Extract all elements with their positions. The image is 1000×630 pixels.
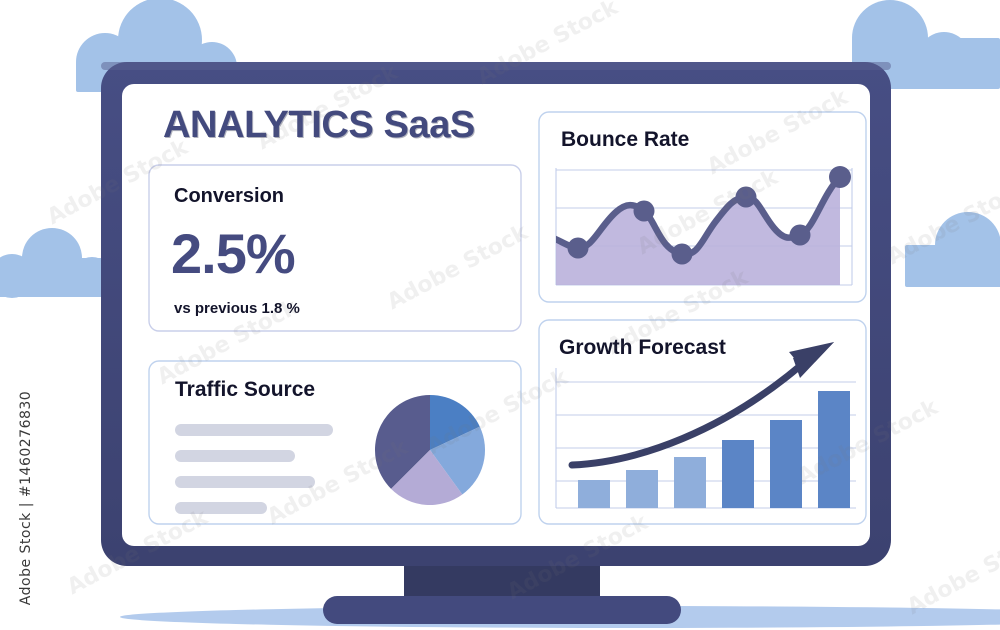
data-point: [568, 238, 589, 259]
monitor-illustration: [0, 0, 1000, 630]
bar-4[interactable]: [722, 440, 754, 508]
bar-6[interactable]: [818, 391, 850, 508]
data-point: [736, 187, 757, 208]
monitor-bezel-highlight: [101, 62, 891, 70]
data-point: [634, 201, 655, 222]
conversion-label: Conversion: [174, 185, 284, 208]
conversion-value: 2.5%: [171, 221, 295, 286]
conversion-subtext: vs previous 1.8 %: [174, 300, 300, 317]
bar-2[interactable]: [626, 470, 658, 508]
page-title: ANALYTICS SaaS: [163, 104, 475, 147]
cloud-left: [0, 228, 112, 298]
bar-1[interactable]: [578, 480, 610, 508]
placeholder-bar: [175, 476, 315, 488]
cloud-right: [905, 212, 1000, 287]
growth-forecast-title: Growth Forecast: [559, 336, 726, 360]
data-point: [672, 244, 693, 265]
traffic-pie-chart[interactable]: [375, 395, 485, 505]
placeholder-bar: [175, 450, 295, 462]
traffic-source-title: Traffic Source: [175, 378, 315, 402]
data-point: [829, 166, 851, 188]
illustration-canvas: ANALYTICS SaaS Conversion 2.5% vs previo…: [0, 0, 1000, 630]
data-point: [790, 225, 811, 246]
placeholder-bar: [175, 502, 267, 514]
bounce-rate-title: Bounce Rate: [561, 128, 689, 152]
monitor-stand-base: [323, 596, 681, 624]
bar-3[interactable]: [674, 457, 706, 508]
bar-5[interactable]: [770, 420, 802, 508]
placeholder-bar: [175, 424, 333, 436]
